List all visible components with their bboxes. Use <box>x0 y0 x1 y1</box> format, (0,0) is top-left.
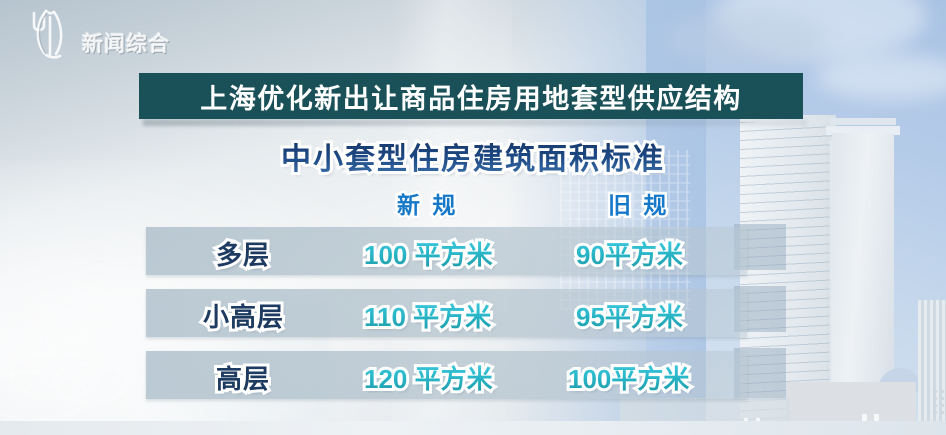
column-header-old-label: 旧 规 <box>608 192 669 218</box>
row-value-new-text: 100 平方米 <box>364 240 493 270</box>
plaza-block <box>620 398 790 422</box>
magnolia-flower-logo-icon <box>22 9 78 61</box>
table-row: 小高层 小高层 110 平方米 110 平方米 95平方米 95平方米 <box>146 289 747 337</box>
row-value-new: 110 平方米 110 平方米 <box>364 297 491 334</box>
banner-shadow <box>143 119 807 126</box>
tower-cap <box>830 118 896 125</box>
channel-logo: 新闻综合 <box>22 9 170 61</box>
row-label: 多层 多层 <box>216 235 270 272</box>
channel-name: 新闻综合 <box>82 28 170 61</box>
headline-banner: 上海优化新出让商品住房用地套型供应结构 <box>139 73 803 119</box>
row-label: 小高层 小高层 <box>203 297 284 334</box>
row-value-old: 95平方米 95平方米 <box>576 297 683 334</box>
row-value-old: 90平方米 90平方米 <box>576 235 683 272</box>
row-value-old-text: 100平方米 <box>568 364 689 394</box>
row-label: 高层 高层 <box>216 359 270 396</box>
row-label-text: 高层 <box>216 364 270 394</box>
table-row: 高层 高层 120 平方米 120 平方米 100平方米 100平方米 <box>146 351 747 399</box>
cloud <box>666 10 826 68</box>
broadcast-graphic: 新闻综合 上海优化新出让商品住房用地套型供应结构 中小套型住房建筑面积标准 中小… <box>0 0 946 435</box>
subtitle-text: 中小套型住房建筑面积标准 <box>0 134 946 178</box>
column-header-new: 新 规 新 规 <box>397 186 458 220</box>
row-value-old-text: 95平方米 <box>576 302 683 332</box>
building-window-dots <box>925 388 946 418</box>
row-label-text: 多层 <box>216 240 270 270</box>
headline-text: 上海优化新出让商品住房用地套型供应结构 <box>200 77 742 116</box>
row-value-new-text: 120 平方米 <box>364 364 493 394</box>
column-header-new-label: 新 规 <box>397 192 458 218</box>
row-value-new: 120 平方米 120 平方米 <box>364 359 493 396</box>
column-header-old: 旧 规 旧 规 <box>608 186 669 220</box>
row-value-old: 100平方米 100平方米 <box>568 359 689 396</box>
row-value-new-text: 110 平方米 <box>364 302 491 332</box>
row-label-text: 小高层 <box>203 302 284 332</box>
row-value-new: 100 平方米 100 平方米 <box>364 235 493 272</box>
table-row: 多层 多层 100 平方米 100 平方米 90平方米 90平方米 <box>146 227 747 275</box>
bottom-band <box>0 421 946 435</box>
plaza-block <box>786 382 916 426</box>
row-value-old-text: 90平方米 <box>576 240 683 270</box>
